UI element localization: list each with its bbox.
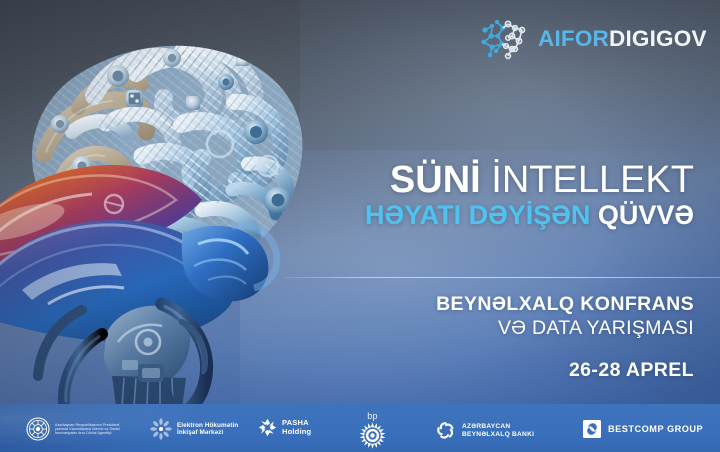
sponsor-bp: bp — [359, 411, 386, 449]
flower-node-icon — [150, 418, 172, 440]
event-conference-label: BEYNƏLXALQ KONFRANS — [436, 292, 694, 316]
headline-heyati-deyisen: HƏYATI DƏYİŞƏN — [365, 200, 590, 230]
logo-wordmark-ai: AIFOR — [538, 26, 609, 51]
headline-intellekt: İNTELLEKT — [491, 159, 694, 201]
sponsor-ehdm: Elektron Hökumətin İnkişaf Mərkəzi — [150, 418, 238, 440]
event-details: BEYNƏLXALQ KONFRANS VƏ DATA YARIŞMASI 26… — [436, 292, 694, 382]
sponsor-bp-label: bp — [367, 411, 377, 422]
event-dates: 26-28 APREL — [436, 359, 694, 382]
sponsor-abb-label: AZƏRBAYCAN BEYNƏLXALQ BANKI — [462, 423, 534, 439]
mechanical-ai-brain-illustration — [0, 4, 342, 424]
abb-swirl-icon — [434, 419, 457, 442]
section-divider — [284, 277, 720, 278]
bp-helios-icon — [359, 422, 386, 449]
sponsor-bestcomp-group-label: BESTCOMP GROUP — [608, 424, 703, 435]
logo-wordmark-digigov: DIGIGOV — [609, 26, 707, 51]
headline-suni: SÜNİ — [390, 159, 481, 201]
sponsor-gov-agency-label: Azərbaycan Respublikasının Prezidenti ya… — [55, 423, 127, 436]
sponsor-ehdm-label: Elektron Hökumətin İnkişaf Mərkəzi — [177, 422, 238, 437]
sponsor-abb: AZƏRBAYCAN BEYNƏLXALQ BANKI — [434, 419, 534, 442]
sponsor-pasha-holding: PASHA Holding — [258, 418, 311, 437]
aifordigigov-logo: AIFORDIGIGOV — [478, 16, 707, 62]
event-competition-label: VƏ DATA YARIŞMASI — [436, 316, 694, 341]
poster-headline: SÜNİ İNTELLEKT HƏYATI DƏYİŞƏN QÜVVƏ — [365, 160, 694, 231]
headline-line-2: HƏYATI DƏYİŞƏN QÜVVƏ — [365, 201, 694, 231]
network-nodes-icon — [478, 16, 530, 62]
sponsor-pasha-holding-label: PASHA Holding — [282, 419, 311, 437]
sponsor-bestcomp-group: BESTCOMP GROUP — [583, 420, 703, 438]
conference-poster: AIFORDIGIGOV SÜNİ İNTELLEKT HƏYATI DƏYİŞ… — [0, 0, 720, 452]
headline-line-1: SÜNİ İNTELLEKT — [365, 160, 694, 200]
sponsor-bar: Azərbaycan Respublikasının Prezidenti ya… — [0, 404, 720, 452]
headline-quvve: QÜVVƏ — [598, 200, 694, 230]
pasha-pinwheel-icon — [258, 418, 277, 437]
azerbaijan-state-emblem-icon — [26, 417, 50, 441]
logo-wordmark: AIFORDIGIGOV — [538, 28, 707, 51]
sponsor-gov-agency: Azərbaycan Respublikasının Prezidenti ya… — [26, 417, 127, 441]
bestcomp-square-icon — [583, 420, 601, 438]
